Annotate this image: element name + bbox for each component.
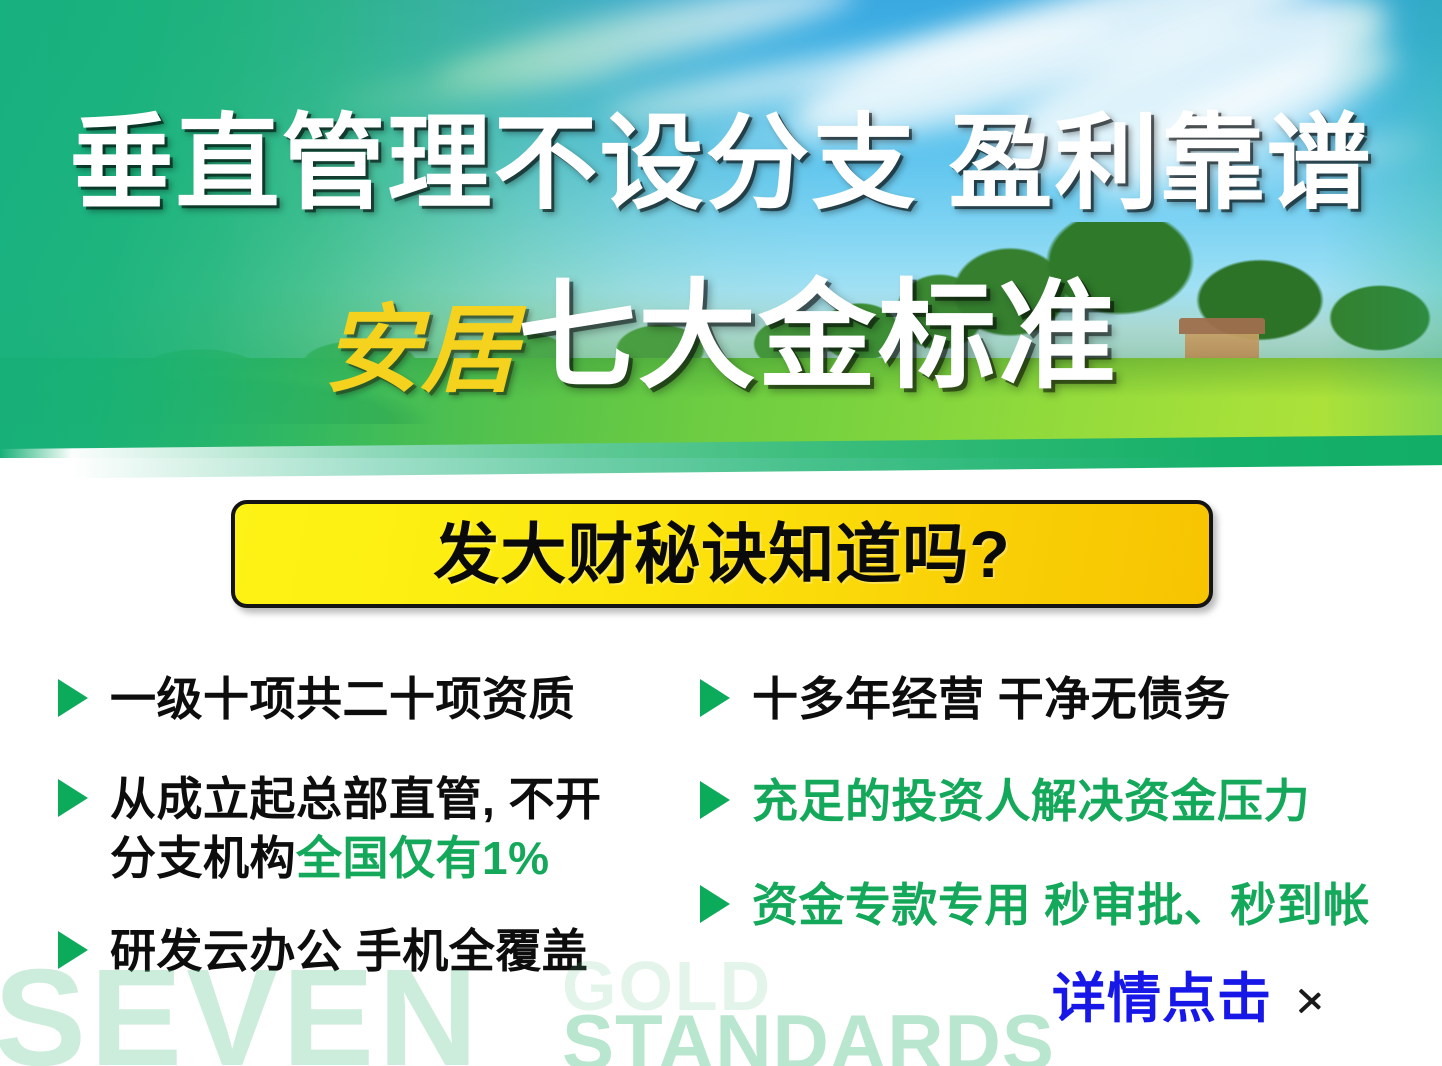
highlight-banner-label: 发大财秘诀知道吗? <box>433 521 1010 587</box>
hero-brand-text: 安居 <box>324 297 518 404</box>
list-item: 充足的投资人解决资金压力 <box>700 772 1310 831</box>
hero-headline-main-text: 七大金标准 <box>518 271 1118 403</box>
feature-list-section: 一级十项共二十项资质 从成立起总部直管, 不开 分支机构全国仅有1% 研发云办公… <box>0 660 1442 990</box>
highlight-banner[interactable]: 发大财秘诀知道吗? <box>231 500 1213 608</box>
list-item-label: 从成立起总部直管, 不开 分支机构全国仅有1% <box>110 770 602 888</box>
list-item-label: 研发云办公 手机全覆盖 <box>110 922 588 981</box>
triangle-bullet-icon <box>700 679 730 717</box>
list-item: 十多年经营 干净无债务 <box>700 670 1230 729</box>
list-item-label: 一级十项共二十项资质 <box>110 670 575 729</box>
triangle-bullet-icon <box>58 779 88 817</box>
list-item-line-2-highlight: 全国仅有1% <box>296 832 549 884</box>
triangle-bullet-icon <box>58 679 88 717</box>
list-item-label: 资金专款专用 秒审批、秒到帐 <box>752 876 1370 935</box>
hero-headline-secondary: 安居七大金标准 <box>0 278 1442 399</box>
watermark-standards-text: STANDARDS <box>562 1003 1055 1066</box>
ad-banner-page: 垂直管理不设分支 盈利靠谱 安居七大金标准 发大财秘诀知道吗? 一级十项共二十项… <box>0 0 1442 1066</box>
triangle-bullet-icon <box>700 781 730 819</box>
triangle-bullet-icon <box>700 885 730 923</box>
hero-section: 垂直管理不设分支 盈利靠谱 安居七大金标准 <box>0 0 1442 458</box>
list-item-line-1: 从成立起总部直管, 不开 <box>110 773 602 825</box>
chevron-right-icon <box>1298 977 1324 1021</box>
list-item-label: 充足的投资人解决资金压力 <box>752 772 1310 831</box>
details-cta-link[interactable]: 详情点击 <box>1052 972 1324 1026</box>
hero-headline-primary: 垂直管理不设分支 盈利靠谱 <box>0 112 1442 216</box>
list-item: 研发云办公 手机全覆盖 <box>58 922 588 981</box>
list-item: 从成立起总部直管, 不开 分支机构全国仅有1% <box>58 770 602 888</box>
list-item: 资金专款专用 秒审批、秒到帐 <box>700 876 1370 935</box>
list-item: 一级十项共二十项资质 <box>58 670 575 729</box>
list-item-label: 十多年经营 干净无债务 <box>752 670 1230 729</box>
triangle-bullet-icon <box>58 931 88 969</box>
details-cta-label: 详情点击 <box>1052 972 1272 1026</box>
list-item-line-2-plain: 分支机构 <box>110 832 296 884</box>
